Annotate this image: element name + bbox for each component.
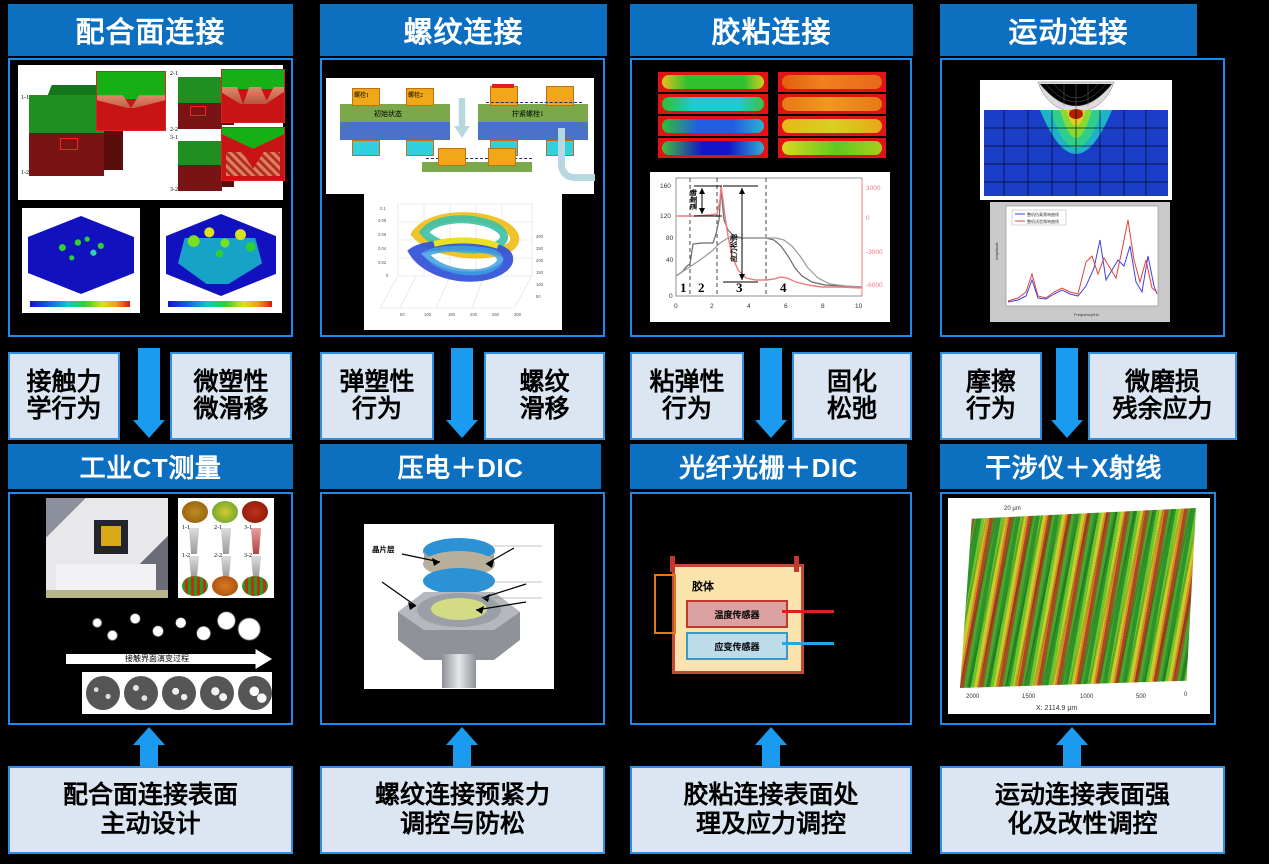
- svg-text:100: 100: [424, 312, 432, 317]
- svg-text:整机仿真频响曲线: 整机仿真频响曲线: [1027, 211, 1059, 217]
- column-adhesive: 胶粘连接: [630, 0, 913, 864]
- mechanism-line-1: 固化: [827, 369, 877, 396]
- mechanism-line-2: 行为: [662, 396, 712, 423]
- header-label: 配合面连接: [75, 9, 225, 51]
- header-label: 胶粘连接: [711, 9, 831, 51]
- svg-text:10: 10: [855, 303, 863, 310]
- ct-slice-montage-image: 1-1 2-1 3-1 1-2 2-2 3-2: [178, 498, 274, 598]
- svg-text:150: 150: [448, 312, 456, 317]
- method-header-industrial-ct[interactable]: 工业CT测量: [8, 444, 293, 489]
- conclusion-line-1: 配合面连接表面: [63, 781, 238, 810]
- state-label-initial: 初始状态: [374, 109, 402, 119]
- svg-text:0.02: 0.02: [378, 260, 387, 265]
- method-panel-industrial-ct: 1-1 2-1 3-1 1-2 2-2 3-2 接触界面演变过程: [8, 492, 293, 725]
- frequency-response-chart: 整机仿真频响曲线 整机试验频响曲线 Frequency/Hz Amplitude: [990, 202, 1170, 322]
- svg-text:0.04: 0.04: [378, 246, 387, 251]
- arrow-shaft-up: [140, 745, 158, 767]
- fbg-sensor-schematic: 胶体 温度传感器 应变传感器: [654, 556, 832, 671]
- svg-text:200: 200: [470, 312, 478, 317]
- conclusion-line-2: 理及应力调控: [696, 810, 846, 839]
- arrow-head-up-icon: [1056, 727, 1088, 745]
- svg-text:40: 40: [666, 257, 674, 264]
- method-panel-fbg-dic: 胶体 温度传感器 应变传感器: [630, 492, 912, 725]
- mechanism-label-viscoelastic: 粘弹性 行为: [630, 352, 744, 440]
- svg-text:温度峰: 温度峰: [689, 188, 698, 210]
- mechanism-label-friction: 摩擦 行为: [940, 352, 1042, 440]
- adhesive-stress-contours-left: [658, 72, 768, 158]
- arrow-head-down-icon: [133, 420, 165, 438]
- svg-text:6: 6: [784, 303, 788, 310]
- svg-text:0.1: 0.1: [380, 206, 386, 211]
- header-label: 螺纹连接: [403, 9, 523, 51]
- mechanism-line-2: 松弛: [827, 396, 877, 423]
- bolt-label-2: 螺栓2: [408, 90, 423, 99]
- phenomena-panel-adhesive: 温度峰 应力松弛 1234 16012080 400 024 6810: [630, 58, 912, 337]
- arrow-head-up-icon: [446, 727, 478, 745]
- svg-text:应力松弛: 应力松弛: [729, 234, 738, 262]
- method-header-fbg-dic[interactable]: 光纤光栅＋DIC: [630, 444, 907, 489]
- column-header-kinematic[interactable]: 运动连接: [940, 4, 1197, 56]
- process-arrow-caption: 接触界面演变过程: [125, 653, 189, 664]
- strain-sensor-box: 应变传感器: [686, 632, 788, 660]
- indentation-fe-image: [980, 80, 1172, 200]
- mechanism-line-1: 微磨损: [1125, 369, 1200, 396]
- arrow-shaft-up: [762, 745, 780, 767]
- method-header-label: 工业CT测量: [80, 448, 222, 485]
- svg-text:3000: 3000: [866, 185, 881, 192]
- svg-text:120: 120: [660, 213, 671, 220]
- svg-text:50: 50: [536, 294, 541, 299]
- svg-text:-6000: -6000: [866, 282, 883, 289]
- conclusion-box-adhesive: 胶粘连接表面处 理及应力调控: [630, 766, 912, 854]
- svg-text:80: 80: [666, 235, 674, 242]
- mechanism-label-microwear-residual-stress: 微磨损 残余应力: [1088, 352, 1237, 440]
- mechanism-line-2: 微滑移: [193, 396, 268, 423]
- mechanism-line-1: 接触力: [26, 369, 101, 396]
- svg-text:300: 300: [514, 312, 522, 317]
- mechanism-line-1: 弹塑性: [339, 369, 414, 396]
- freq-chart-svg: 整机仿真频响曲线 整机试验频响曲线 Frequency/Hz Amplitude: [990, 202, 1170, 322]
- svg-text:4: 4: [780, 280, 787, 295]
- conclusion-line-1: 运动连接表面强: [995, 781, 1170, 810]
- temperature-sensor-box: 温度传感器: [686, 600, 788, 628]
- contact-map-image-1: [22, 208, 140, 313]
- mechanism-label-thread-slip: 螺纹 滑移: [484, 352, 605, 440]
- mechanism-line-2: 行为: [966, 396, 1016, 423]
- svg-text:250: 250: [536, 246, 544, 251]
- svg-text:0: 0: [866, 215, 870, 222]
- svg-text:晶片层: 晶片层: [372, 544, 395, 554]
- mechanism-line-1: 粘弹性: [649, 369, 724, 396]
- mechanism-line-1: 螺纹: [519, 369, 569, 396]
- mechanism-label-elastoplastic: 弹塑性 行为: [320, 352, 434, 440]
- arrow-shaft-down: [1056, 348, 1078, 420]
- svg-text:4: 4: [747, 303, 751, 310]
- phenomena-panel-mating-surface: 1-1 1-2 2-1 2-2 3-1 3-2: [8, 58, 293, 337]
- surface-topography-image: 20 μm 2000 1500 1000 500 0 X: 2114.9 μm: [948, 498, 1210, 714]
- contact-evolution-strip: [82, 606, 272, 648]
- conclusion-box-kinematic: 运动连接表面强 化及改性调控: [940, 766, 1225, 854]
- column-header-threaded[interactable]: 螺纹连接: [320, 4, 607, 56]
- svg-text:0: 0: [669, 293, 673, 300]
- arrow-head-up-icon: [755, 727, 787, 745]
- svg-text:8: 8: [821, 303, 825, 310]
- svg-text:200: 200: [536, 258, 544, 263]
- svg-text:0.06: 0.06: [378, 232, 387, 237]
- ct-scanner-photo: [46, 498, 168, 598]
- fe-contact-model-image: 1-1 1-2 2-1 2-2 3-1 3-2: [18, 65, 283, 200]
- mechanism-line-2: 行为: [352, 396, 402, 423]
- cure-chart-svg: 温度峰 应力松弛 1234 16012080 400 024 6810: [650, 172, 890, 322]
- arrow-head-down-icon: [1051, 420, 1083, 438]
- method-header-piezo-dic[interactable]: 压电＋DIC: [320, 444, 601, 489]
- conclusion-box-mating-surface: 配合面连接表面 主动设计: [8, 766, 293, 854]
- method-header-label: 干涉仪＋X射线: [985, 448, 1162, 485]
- method-panel-piezo-dic: 晶片层: [320, 492, 605, 725]
- adhesive-stress-contours-right: [778, 72, 886, 158]
- column-kinematic: 运动连接: [940, 0, 1233, 864]
- method-header-label: 光纤光栅＋DIC: [679, 448, 858, 485]
- glue-label: 胶体: [692, 578, 714, 594]
- indentation-svg: [980, 80, 1172, 200]
- phenomena-panel-threaded: 螺栓1 螺栓2 初始状态 拧紧螺栓1: [320, 58, 605, 337]
- svg-text:整机试验频响曲线: 整机试验频响曲线: [1027, 218, 1059, 224]
- svg-text:160: 160: [660, 183, 671, 190]
- contact-map-image-2: [160, 208, 282, 313]
- column-mating-surface: 配合面连接: [0, 0, 293, 864]
- state-label-tighten: 拧紧螺栓1: [512, 109, 544, 119]
- arrow-head-down-icon: [755, 420, 787, 438]
- mechanism-label-contact-mechanics: 接触力 学行为: [8, 352, 120, 440]
- conclusion-line-1: 胶粘连接表面处: [683, 781, 858, 810]
- arrow-shaft-down: [451, 348, 473, 420]
- column-header-mating-surface[interactable]: 配合面连接: [8, 4, 293, 56]
- svg-text:50: 50: [400, 312, 405, 317]
- mechanism-line-1: 摩擦: [966, 369, 1016, 396]
- svg-text:Frequency/Hz: Frequency/Hz: [1074, 312, 1099, 317]
- svg-text:0: 0: [386, 273, 389, 278]
- svg-text:0: 0: [674, 303, 678, 310]
- arrow-shaft-up: [1063, 745, 1081, 767]
- mechanism-label-cure-relaxation: 固化 松弛: [792, 352, 912, 440]
- x-axis-label: X: 2114.9 μm: [1036, 705, 1077, 712]
- svg-text:2: 2: [698, 280, 705, 295]
- arrow-head-up-icon: [133, 727, 165, 745]
- phenomena-panel-kinematic: 整机仿真频响曲线 整机试验频响曲线 Frequency/Hz Amplitude: [940, 58, 1225, 337]
- svg-text:250: 250: [492, 312, 500, 317]
- ct-cross-sections: [82, 672, 272, 714]
- svg-text:150: 150: [536, 270, 544, 275]
- method-header-interferometer-xray[interactable]: 干涉仪＋X射线: [940, 444, 1207, 489]
- svg-text:-3000: -3000: [866, 249, 883, 256]
- arrow-shaft-down: [138, 348, 160, 420]
- svg-text:100: 100: [536, 282, 544, 287]
- conclusion-box-threaded: 螺纹连接预紧力 调控与防松: [320, 766, 605, 854]
- conclusion-line-1: 螺纹连接预紧力: [375, 781, 550, 810]
- mechanism-line-2: 学行为: [26, 396, 101, 423]
- svg-text:3: 3: [736, 280, 743, 295]
- svg-text:1: 1: [680, 280, 687, 295]
- bolt-sensor-diagram: 晶片层: [364, 524, 554, 689]
- svg-text:300: 300: [536, 234, 544, 239]
- arrow-head-down-icon: [446, 420, 478, 438]
- conclusion-line-2: 化及改性调控: [1007, 810, 1157, 839]
- arrow-shaft-up: [453, 745, 471, 767]
- adhesive-cure-chart: 温度峰 应力松弛 1234 16012080 400 024 6810: [650, 172, 890, 322]
- method-header-label: 压电＋DIC: [398, 448, 524, 485]
- column-header-adhesive[interactable]: 胶粘连接: [630, 4, 913, 56]
- mechanism-line-1: 微塑性: [193, 369, 268, 396]
- mechanism-line-2: 滑移: [519, 396, 569, 423]
- diagram-canvas: 配合面连接: [0, 0, 1269, 864]
- bolt-label-1: 螺栓1: [354, 90, 369, 99]
- conclusion-line-2: 调控与防松: [400, 810, 525, 839]
- svg-text:Amplitude: Amplitude: [994, 241, 999, 260]
- bolt-sensor-svg: 晶片层: [364, 524, 554, 689]
- conclusion-line-2: 主动设计: [100, 810, 200, 839]
- mechanism-label-microplastic-slip: 微塑性 微滑移: [170, 352, 292, 440]
- preload-3d-surface-chart: 0.10.080.06 0.040.020 50100150 200250300…: [364, 190, 562, 330]
- svg-text:0.08: 0.08: [378, 218, 387, 223]
- column-threaded: 螺纹连接 螺栓1 螺栓2 初始状态: [320, 0, 607, 864]
- bolt-tightening-schematic: 螺栓1 螺栓2 初始状态 拧紧螺栓1: [326, 78, 594, 194]
- header-label: 运动连接: [1008, 9, 1128, 51]
- arrow-shaft-down: [760, 348, 782, 420]
- preload-surface-svg: 0.10.080.06 0.040.020 50100150 200250300…: [364, 190, 562, 330]
- svg-text:2: 2: [710, 303, 714, 310]
- method-panel-interferometer-xray: 20 μm 2000 1500 1000 500 0 X: 2114.9 μm: [940, 492, 1216, 725]
- mechanism-line-2: 残余应力: [1112, 396, 1212, 423]
